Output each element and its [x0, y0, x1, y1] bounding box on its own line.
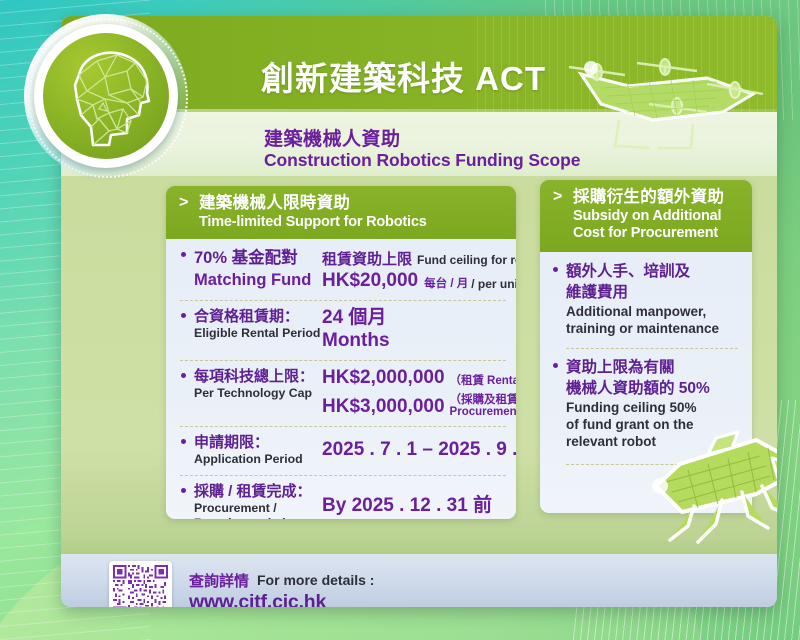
right-panel-header: > 採購衍生的額外資助 Subsidy on Additional Cost f…	[540, 180, 752, 252]
fund-unit-en: / per unit / month	[471, 277, 516, 293]
qr-code-icon[interactable]	[109, 561, 172, 607]
tech-cap-label-cn: 每項科技總上限：	[194, 367, 314, 386]
tech-cap-label-en: Per Technology Cap	[194, 386, 314, 401]
application-period-value: 2025 . 7 . 1 – 2025 . 9 . 30	[322, 439, 516, 462]
bullet-icon	[181, 439, 186, 444]
funding-ceiling-cn-1: 資助上限為有關	[566, 357, 740, 378]
application-period-label-cn: 申請期限：	[194, 433, 314, 452]
fund-ceiling-cn: 租賃資助上限	[322, 248, 412, 269]
row-per-technology-cap: 每項科技總上限： Per Technology Cap HK$2,000,000…	[166, 360, 516, 427]
funding-ceiling-en-1: Funding ceiling 50%	[566, 399, 740, 416]
row-matching-fund: 70% 基金配對 Matching Fund 租賃資助上限 Fund ceili…	[166, 239, 516, 300]
completion-label-en-1: Procurement /	[194, 501, 314, 516]
row-additional-manpower: 額外人手、培訓及 維護費用 Additional manpower, train…	[540, 252, 752, 348]
right-panel-head-en-2: Cost for Procurement	[573, 225, 752, 243]
completion-value: By 2025 . 12 . 31 前	[322, 495, 492, 518]
completion-label-en-2: Rental completion	[194, 516, 314, 519]
left-panel-body: 70% 基金配對 Matching Fund 租賃資助上限 Fund ceili…	[166, 239, 516, 519]
bullet-icon	[553, 363, 558, 368]
more-details-en: For more details :	[257, 572, 374, 588]
funding-ceiling-cn-2: 機械人資助額的 50%	[566, 378, 740, 399]
additional-manpower-en-1: Additional manpower,	[566, 303, 740, 320]
tech-cap-amount-procurement: HK$3,000,000	[322, 396, 445, 419]
left-panel-header: > 建築機械人限時資助 Time-limited Support for Rob…	[166, 186, 516, 239]
right-panel-head-en-1: Subsidy on Additional	[573, 208, 752, 226]
tech-cap-note-proc-en: Procurement & Rental）	[450, 406, 516, 419]
application-period-label-en: Application Period	[194, 452, 314, 467]
fund-ceiling-en: Fund ceiling for rental	[417, 253, 516, 267]
tech-cap-note-rental-cn: （租賃	[450, 372, 485, 390]
wireframe-head-helmet-icon	[43, 33, 169, 159]
subtitle-chinese: 建築機械人資助	[264, 124, 401, 151]
completion-label-cn: 採購 / 租賃完成：	[194, 482, 314, 501]
right-panel-head-cn: 採購衍生的額外資助	[573, 187, 752, 208]
website-url[interactable]: www.citf.cic.hk	[189, 591, 326, 607]
footer-bar: 查詢詳情 For more details : www.citf.cic.hk	[61, 554, 777, 607]
left-panel-head-en: Time-limited Support for Robotics	[199, 214, 516, 232]
infographic-stage: 創新建築科技 ACT 建築機械人資助 Construction Robotics…	[0, 0, 800, 640]
additional-manpower-en-2: training or maintenance	[566, 320, 740, 337]
page-title: 創新建築科技 ACT	[261, 52, 546, 100]
drone-icon	[557, 42, 777, 150]
matching-fund-label-cn: 70% 基金配對	[194, 248, 314, 269]
additional-manpower-cn-2: 維護費用	[566, 282, 740, 303]
bullet-icon	[181, 373, 186, 378]
tech-cap-note-proc-cn: （採購及租賃	[450, 394, 516, 407]
subtitle-english: Construction Robotics Funding Scope	[264, 150, 580, 171]
row-procurement-completion: 採購 / 租賃完成： Procurement / Rental completi…	[166, 475, 516, 519]
rental-period-value-en: Months	[322, 330, 390, 353]
robot-dog-icon	[636, 420, 777, 550]
fund-unit-cn: 每台 / 月	[424, 275, 468, 293]
bullet-icon	[553, 267, 558, 272]
chevron-right-icon: >	[179, 194, 188, 212]
rental-period-label-cn: 合資格租賃期：	[194, 307, 314, 326]
rental-period-label-en: Eligible Rental Period	[194, 326, 314, 341]
left-panel-head-cn: 建築機械人限時資助	[199, 193, 516, 214]
matching-fund-label-en: Matching Fund	[194, 270, 314, 291]
bullet-icon	[181, 252, 186, 257]
panel-time-limited-support: > 建築機械人限時資助 Time-limited Support for Rob…	[166, 186, 516, 519]
chevron-right-icon: >	[553, 188, 562, 206]
act-logo-badge	[24, 14, 188, 178]
bullet-icon	[181, 313, 186, 318]
more-details-cn: 查詢詳情	[189, 570, 249, 591]
tech-cap-amount-rental: HK$2,000,000	[322, 367, 445, 390]
row-eligible-rental-period: 合資格租賃期： Eligible Rental Period 24 個月 Mon…	[166, 300, 516, 360]
row-application-period: 申請期限： Application Period 2025 . 7 . 1 – …	[166, 426, 516, 475]
bullet-icon	[181, 488, 186, 493]
tech-cap-note-rental-en: Rental）	[487, 372, 516, 390]
fund-ceiling-amount: HK$20,000	[322, 270, 418, 293]
additional-manpower-cn-1: 額外人手、培訓及	[566, 261, 740, 282]
rental-period-value-cn: 24 個月	[322, 307, 390, 330]
